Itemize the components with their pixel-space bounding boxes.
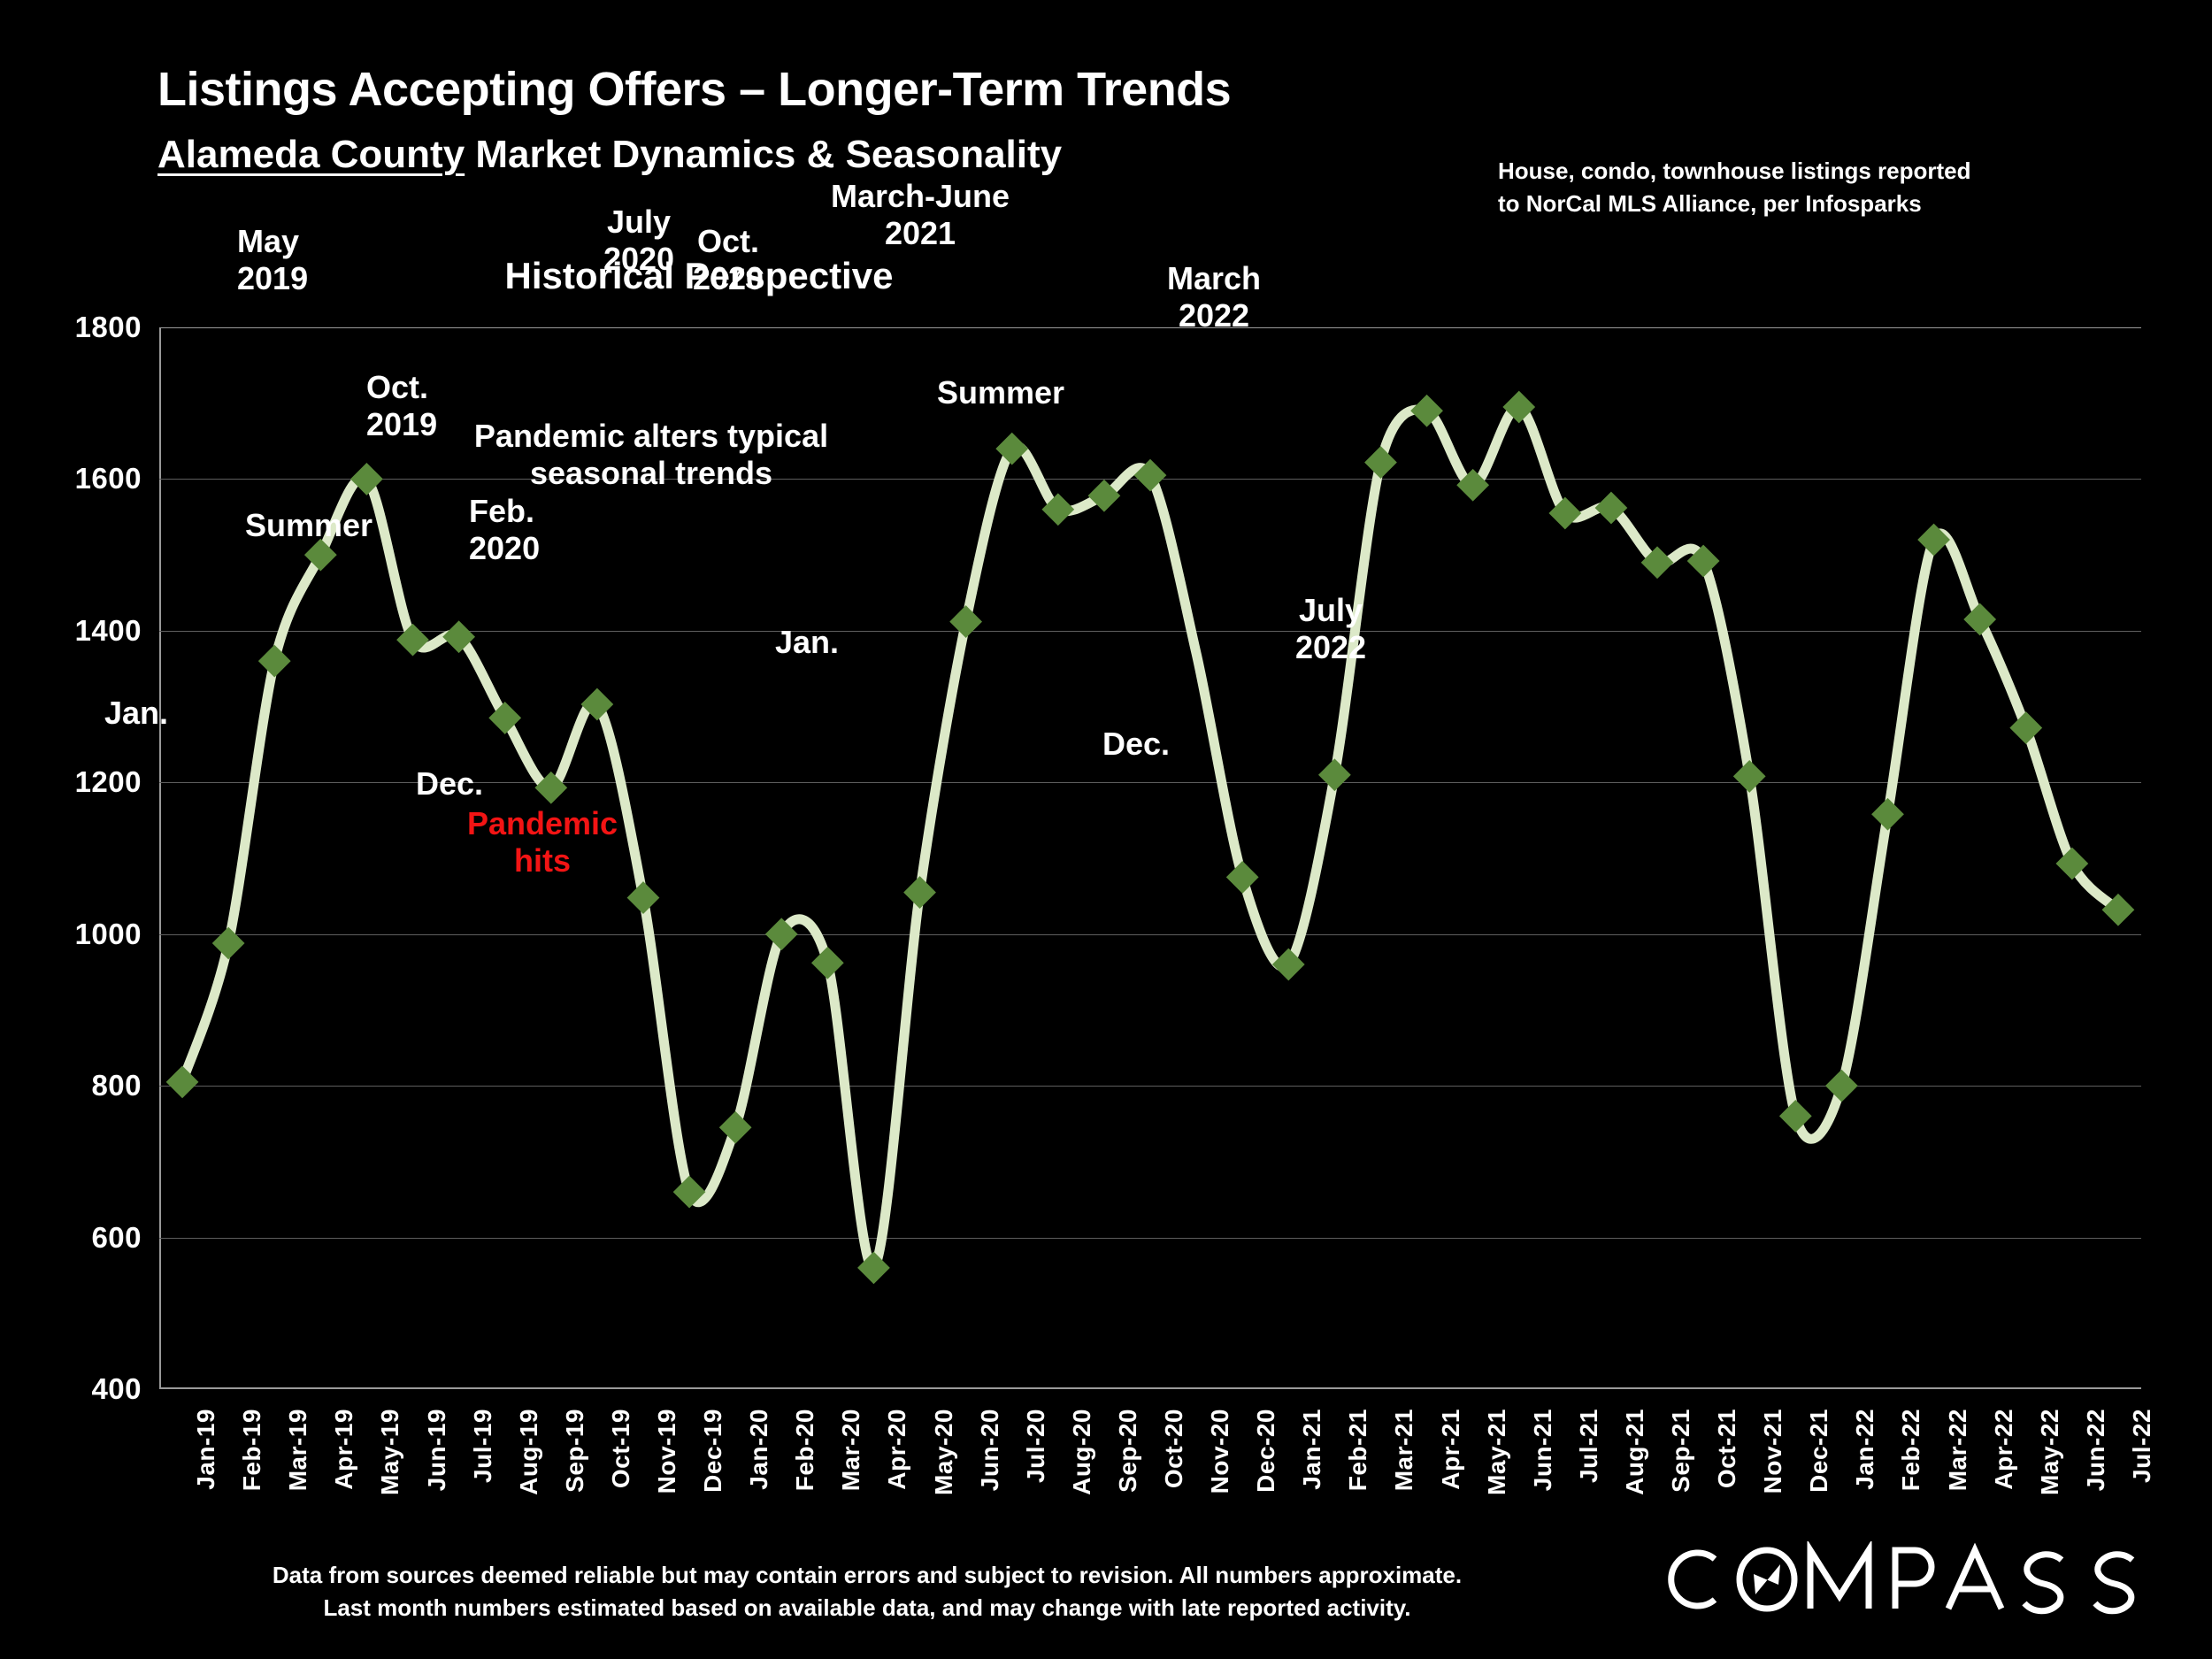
x-tick-Oct-19: Oct-19 [607, 1409, 635, 1488]
annotation-line: Dec. [1102, 726, 1170, 763]
x-tick-Sep-20: Sep-20 [1114, 1409, 1142, 1493]
annotation-line: Jan. [104, 695, 168, 732]
annotation-line: July [603, 204, 674, 241]
x-tick-Jul-22: Jul-22 [2128, 1409, 2156, 1483]
annotation-line: March [1167, 260, 1261, 297]
annotation-line: May [237, 223, 308, 260]
x-tick-Jul-20: Jul-20 [1022, 1409, 1050, 1483]
x-axis-line [159, 1387, 2141, 1389]
y-axis-line [159, 327, 161, 1389]
x-tick-Dec-21: Dec-21 [1805, 1409, 1833, 1493]
x-tick-Feb-19: Feb-19 [238, 1409, 266, 1491]
annotation-oct-2020: Oct.2020 [693, 223, 764, 297]
disclaimer: Data from sources deemed reliable but ma… [0, 1559, 1734, 1624]
x-tick-May-22: May-22 [2036, 1409, 2064, 1495]
annotation-line: Oct. [693, 223, 764, 260]
gridline-800 [159, 1086, 2141, 1087]
annotation-line: 2021 [831, 215, 1010, 252]
annotation-dec-2019: Dec. [416, 765, 483, 803]
x-tick-Nov-20: Nov-20 [1206, 1409, 1234, 1494]
annotation-dec-2021: Dec. [1102, 726, 1170, 763]
x-tick-Feb-20: Feb-20 [791, 1409, 819, 1491]
x-tick-Aug-20: Aug-20 [1068, 1409, 1096, 1495]
y-tick-1600: 1600 [0, 462, 142, 495]
y-tick-1200: 1200 [0, 765, 142, 799]
gridline-600 [159, 1238, 2141, 1239]
x-tick-May-20: May-20 [930, 1409, 958, 1495]
annotation-oct-2019: Oct.2019 [366, 369, 437, 443]
x-tick-Jul-19: Jul-19 [469, 1409, 497, 1483]
source-note-line1: House, condo, townhouse listings reporte… [1498, 155, 1970, 188]
x-tick-May-21: May-21 [1483, 1409, 1511, 1495]
x-tick-Jan-21: Jan-21 [1298, 1409, 1326, 1490]
x-tick-Jun-19: Jun-19 [423, 1409, 451, 1491]
y-tick-1000: 1000 [0, 918, 142, 951]
annotation-line: Pandemic [467, 805, 618, 842]
plot-top-border [159, 327, 2141, 328]
annotation-line: Feb. [469, 493, 540, 530]
annotation-march-june-2021: March-June2021 [831, 178, 1010, 252]
x-tick-Dec-20: Dec-20 [1252, 1409, 1280, 1493]
annotation-line: Summer [937, 374, 1064, 411]
disclaimer-line2: Last month numbers estimated based on av… [0, 1592, 1734, 1624]
y-tick-600: 600 [0, 1221, 142, 1255]
page-title: Listings Accepting Offers – Longer-Term … [157, 62, 1231, 117]
annotation-jan-2019: Jan. [104, 695, 168, 732]
annotation-line: 2020 [693, 260, 764, 297]
chart-plot-area [159, 327, 2141, 1389]
annotation-line: Dec. [416, 765, 483, 803]
x-tick-Nov-19: Nov-19 [653, 1409, 681, 1494]
annotation-march-2022: March2022 [1167, 260, 1261, 334]
gridline-1600 [159, 479, 2141, 480]
annotation-line: 2019 [366, 406, 437, 443]
annotation-line: 2020 [469, 530, 540, 567]
annotation-feb-2020: Feb.2020 [469, 493, 540, 567]
y-tick-1800: 1800 [0, 311, 142, 344]
x-tick-Jun-22: Jun-22 [2082, 1409, 2110, 1491]
x-tick-Aug-21: Aug-21 [1621, 1409, 1649, 1495]
annotation-summer-2019: Summer [245, 507, 373, 544]
slide-root: Listings Accepting Offers – Longer-Term … [0, 0, 2212, 1659]
x-tick-Mar-21: Mar-21 [1390, 1409, 1418, 1491]
annotation-pandemic-hits: Pandemichits [467, 805, 618, 879]
x-tick-Jan-22: Jan-22 [1851, 1409, 1879, 1490]
y-tick-1400: 1400 [0, 614, 142, 648]
x-tick-Jun-20: Jun-20 [976, 1409, 1004, 1491]
x-tick-Mar-20: Mar-20 [837, 1409, 865, 1491]
x-tick-Apr-22: Apr-22 [1990, 1409, 2018, 1490]
annotation-line: 2022 [1167, 297, 1261, 334]
x-tick-Jan-20: Jan-20 [745, 1409, 773, 1490]
disclaimer-line1: Data from sources deemed reliable but ma… [0, 1559, 1734, 1592]
x-tick-Mar-22: Mar-22 [1944, 1409, 1972, 1491]
x-tick-Apr-21: Apr-21 [1437, 1409, 1465, 1490]
x-tick-Nov-21: Nov-21 [1759, 1409, 1787, 1494]
annotation-line: seasonal trends [474, 455, 828, 492]
annotation-pandemic-alters: Pandemic alters typicalseasonal trends [474, 418, 828, 492]
gridline-1000 [159, 934, 2141, 935]
annotation-july-2020: July2020 [603, 204, 674, 278]
x-tick-May-19: May-19 [376, 1409, 404, 1495]
source-note: House, condo, townhouse listings reporte… [1498, 155, 1970, 220]
x-tick-Jun-21: Jun-21 [1529, 1409, 1557, 1491]
annotation-line: hits [467, 842, 618, 879]
x-tick-Apr-20: Apr-20 [883, 1409, 911, 1490]
annotation-jan-2021: Jan. [775, 624, 839, 661]
x-tick-Feb-21: Feb-21 [1344, 1409, 1372, 1491]
compass-logo [1663, 1541, 2141, 1617]
annotation-july-2022: July2022 [1295, 592, 1366, 666]
annotation-line: Jan. [775, 624, 839, 661]
subtitle-county: Alameda County [157, 133, 465, 176]
annotation-line: Pandemic alters typical [474, 418, 828, 455]
x-tick-Mar-19: Mar-19 [284, 1409, 312, 1491]
y-tick-800: 800 [0, 1069, 142, 1102]
annotation-line: July [1295, 592, 1366, 629]
x-tick-Sep-21: Sep-21 [1667, 1409, 1695, 1493]
x-tick-Feb-22: Feb-22 [1897, 1409, 1925, 1491]
annotation-may-2019: May2019 [237, 223, 308, 297]
x-tick-Jan-19: Jan-19 [192, 1409, 220, 1490]
x-tick-Oct-21: Oct-21 [1713, 1409, 1741, 1488]
x-tick-Jul-21: Jul-21 [1575, 1409, 1603, 1483]
annotation-line: Oct. [366, 369, 437, 406]
x-tick-Oct-20: Oct-20 [1160, 1409, 1188, 1488]
x-tick-Aug-19: Aug-19 [515, 1409, 543, 1495]
annotation-line: 2022 [1295, 629, 1366, 666]
subtitle-rest: Market Dynamics & Seasonality [465, 133, 1062, 176]
y-tick-400: 400 [0, 1372, 142, 1406]
annotation-line: 2020 [603, 241, 674, 278]
x-tick-Sep-19: Sep-19 [561, 1409, 589, 1493]
source-note-line2: to NorCal MLS Alliance, per Infosparks [1498, 188, 1970, 220]
annotation-line: Summer [245, 507, 373, 544]
x-tick-Dec-19: Dec-19 [699, 1409, 727, 1493]
annotation-summer-2021: Summer [937, 374, 1064, 411]
annotation-line: March-June [831, 178, 1010, 215]
annotation-line: 2019 [237, 260, 308, 297]
page-subtitle: Alameda County Market Dynamics & Seasona… [157, 133, 1062, 177]
gridline-1400 [159, 631, 2141, 632]
x-tick-Apr-19: Apr-19 [330, 1409, 358, 1490]
